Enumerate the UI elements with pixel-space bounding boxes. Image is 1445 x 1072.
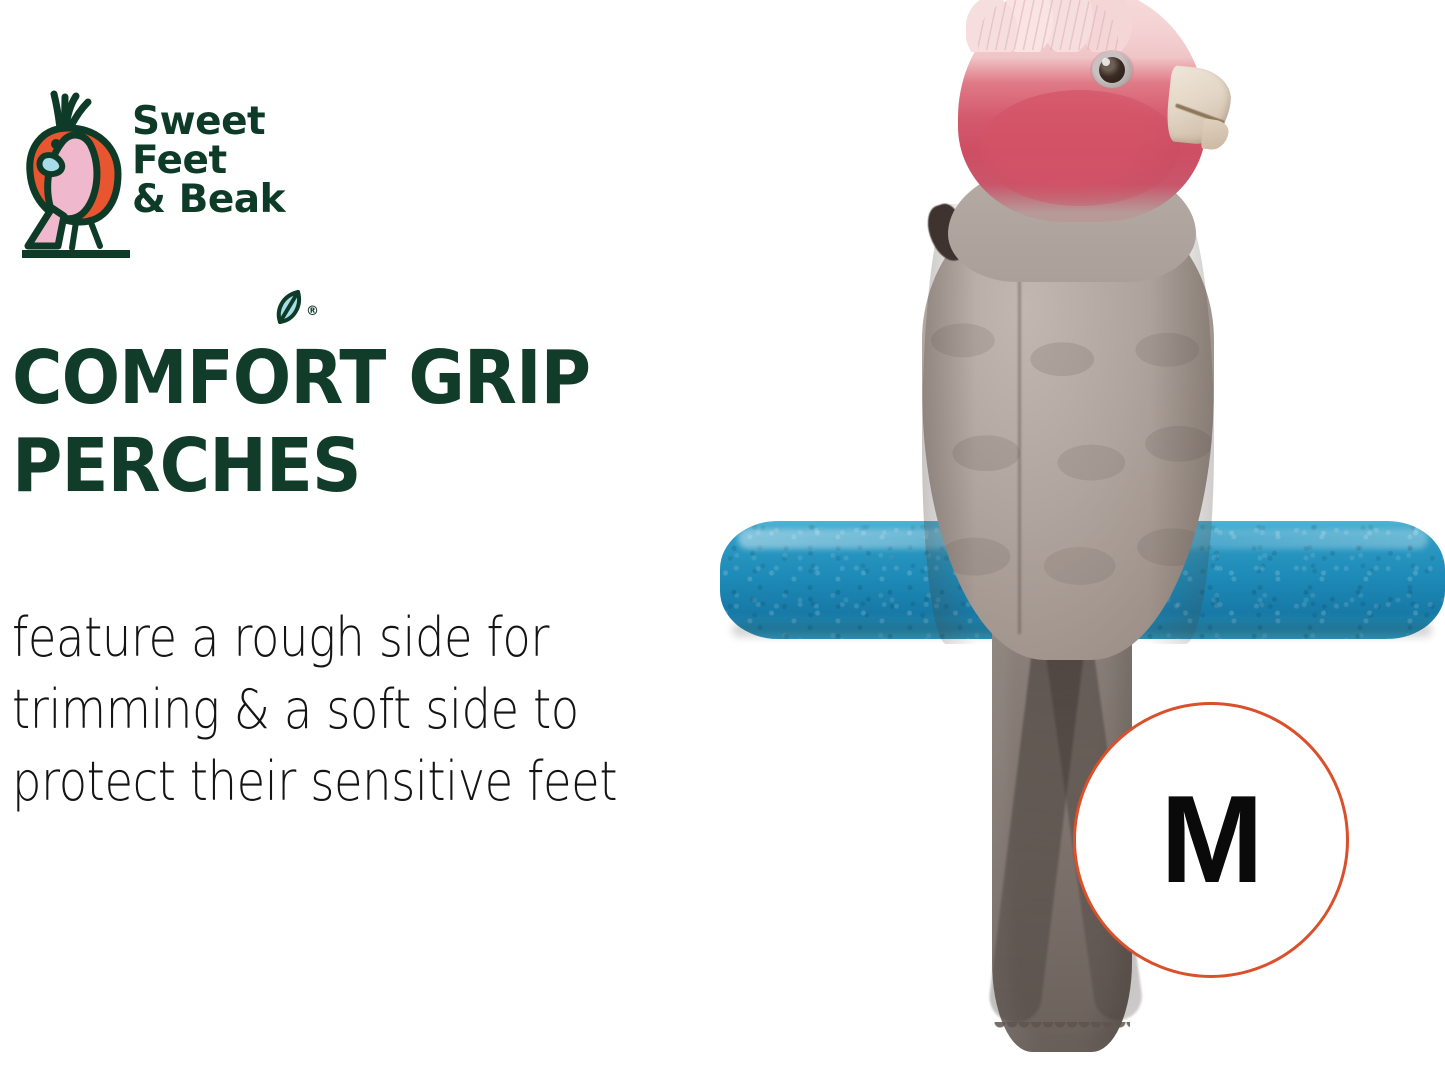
size-badge: M bbox=[1073, 702, 1349, 978]
bird-wing-split bbox=[1018, 234, 1021, 634]
product-photo bbox=[690, 0, 1445, 1072]
leaf-icon bbox=[272, 288, 306, 330]
bird-cheek bbox=[980, 90, 1180, 206]
brand-name-line-3: & Beak bbox=[132, 180, 292, 219]
registered-trademark-mark: ® bbox=[306, 304, 319, 319]
cockatoo-logo-icon bbox=[14, 88, 130, 264]
description-line-2: trimming & a soft side to bbox=[12, 674, 666, 746]
bird-eye bbox=[1092, 52, 1132, 88]
brand-wordmark: Sweet Feet & Beak bbox=[132, 102, 292, 219]
size-badge-label: M bbox=[1160, 778, 1261, 902]
headline-line-2: PERCHES bbox=[12, 422, 756, 510]
bird-crest-feather-lines bbox=[978, 0, 1118, 50]
brand-logo[interactable]: Sweet Feet & Beak ® bbox=[14, 88, 324, 268]
description-line-3: protect their sensitive feet bbox=[12, 746, 666, 818]
product-description: feature a rough side for trimming & a so… bbox=[12, 602, 666, 818]
page-title: COMFORT GRIP PERCHES bbox=[12, 334, 756, 510]
product-marketing-image: Sweet Feet & Beak ® COMFORT GRIP PERCHES… bbox=[0, 0, 1445, 1072]
brand-name-line-1: Sweet bbox=[132, 102, 292, 141]
bird-eye-glint bbox=[1102, 58, 1110, 66]
description-line-1: feature a rough side for bbox=[12, 602, 666, 674]
bird-beak-tip bbox=[1200, 118, 1230, 151]
brand-name-line-2: Feet bbox=[132, 141, 292, 180]
bird-tail-edge bbox=[994, 1022, 1130, 1048]
bird-body-shadow-left bbox=[922, 204, 976, 644]
headline-line-1: COMFORT GRIP bbox=[12, 334, 756, 422]
